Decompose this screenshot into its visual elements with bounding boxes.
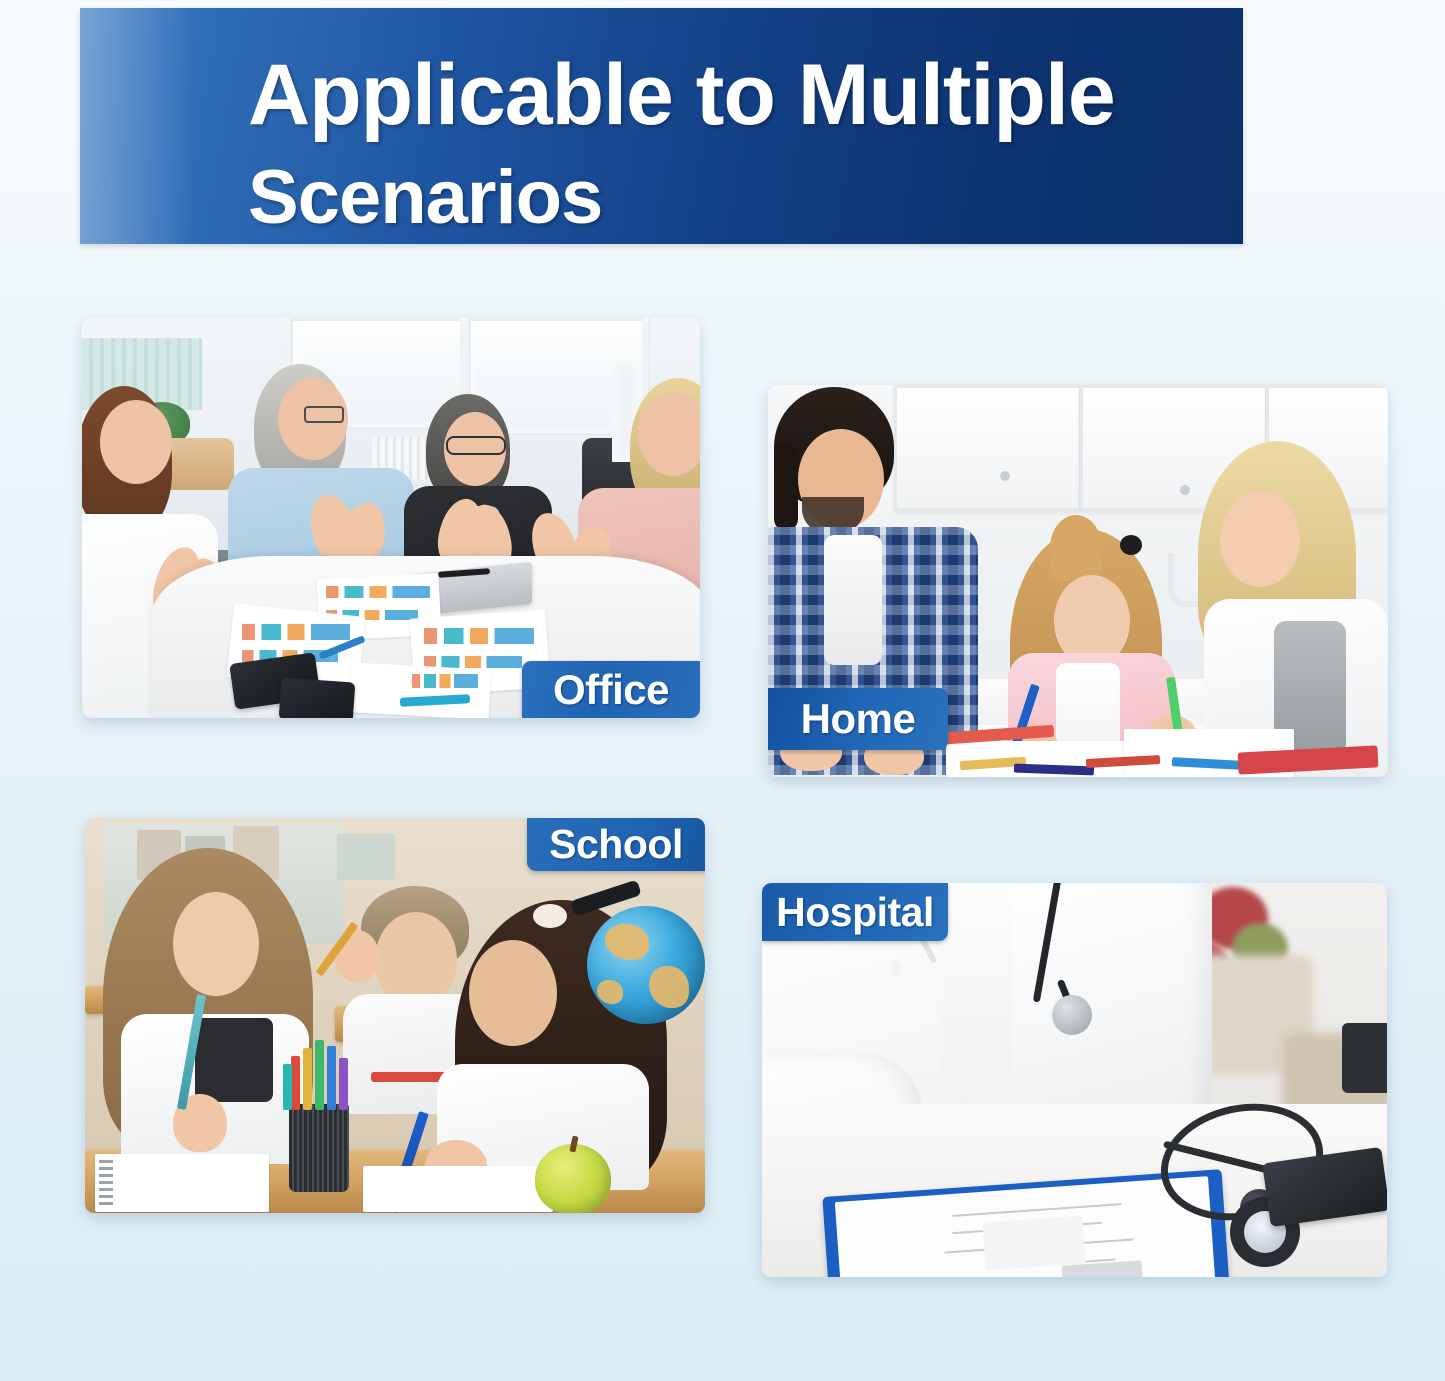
badge-office: Office bbox=[522, 661, 700, 718]
banner-title-line-2: Scenarios bbox=[248, 160, 602, 236]
globe bbox=[587, 906, 705, 1024]
scenario-card-home[interactable]: Home bbox=[768, 385, 1388, 777]
header-banner: Applicable to Multiple Scenarios bbox=[80, 8, 1243, 244]
badge-home: Home bbox=[768, 688, 948, 750]
apple bbox=[535, 1144, 611, 1213]
pencil-cup bbox=[289, 1104, 349, 1192]
school-photo bbox=[85, 818, 705, 1213]
badge-school: School bbox=[527, 818, 705, 871]
badge-hospital: Hospital bbox=[762, 883, 948, 941]
scenario-card-office[interactable]: Office bbox=[82, 318, 700, 718]
banner-title-line-1: Applicable to Multiple bbox=[248, 52, 1115, 138]
scenario-card-hospital[interactable]: Hospital bbox=[762, 883, 1387, 1277]
scenario-card-school[interactable]: School bbox=[85, 818, 705, 1213]
hospital-photo bbox=[762, 883, 1387, 1277]
office-photo bbox=[82, 318, 700, 718]
